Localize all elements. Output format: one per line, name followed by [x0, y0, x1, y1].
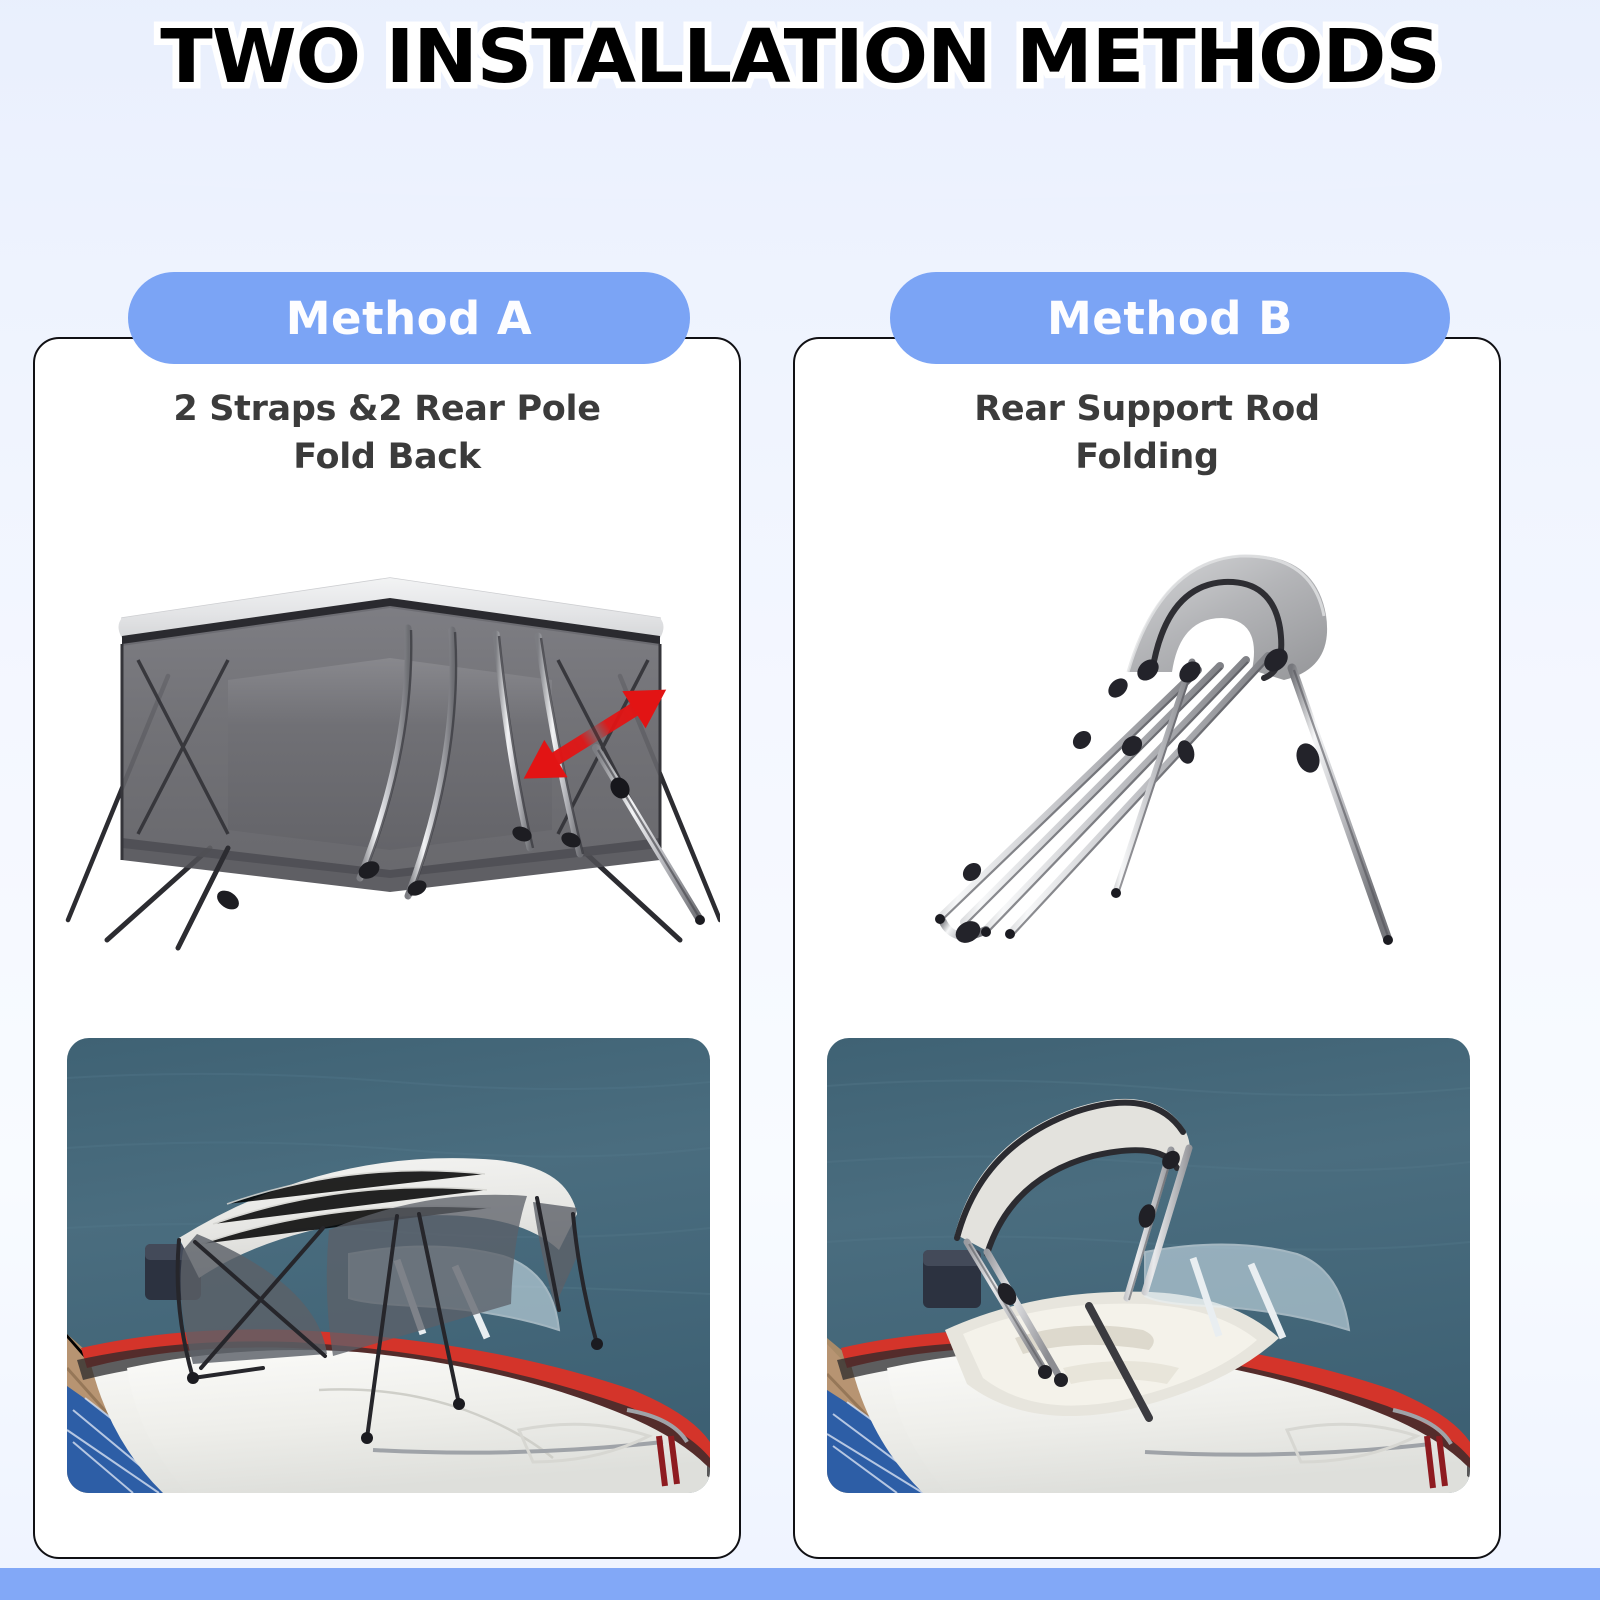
method-a-badge-label: Method A: [286, 292, 532, 345]
method-a-caption: 2 Straps &2 Rear Pole Fold Back: [33, 385, 741, 482]
method-b-caption-line2: Folding: [793, 433, 1501, 481]
method-b-photo: [827, 1038, 1470, 1493]
methods-container: Method A Method B 2 Straps &2 Rear Pole …: [0, 0, 1600, 1600]
method-b-diagram: [860, 520, 1440, 970]
method-a-caption-line1: 2 Straps &2 Rear Pole: [33, 385, 741, 433]
method-a-photo: [67, 1038, 710, 1493]
method-b-caption: Rear Support Rod Folding: [793, 385, 1501, 482]
page-title: TWO INSTALLATION METHODS: [0, 14, 1600, 100]
method-a-caption-line2: Fold Back: [33, 433, 741, 481]
method-b-caption-line1: Rear Support Rod: [793, 385, 1501, 433]
method-a-badge: Method A: [128, 272, 690, 364]
method-b-badge-label: Method B: [1047, 292, 1293, 345]
method-b-badge: Method B: [890, 272, 1450, 364]
infographic-page: TWO INSTALLATION METHODS Method A Method…: [0, 0, 1600, 1600]
method-a-diagram: [60, 548, 720, 968]
